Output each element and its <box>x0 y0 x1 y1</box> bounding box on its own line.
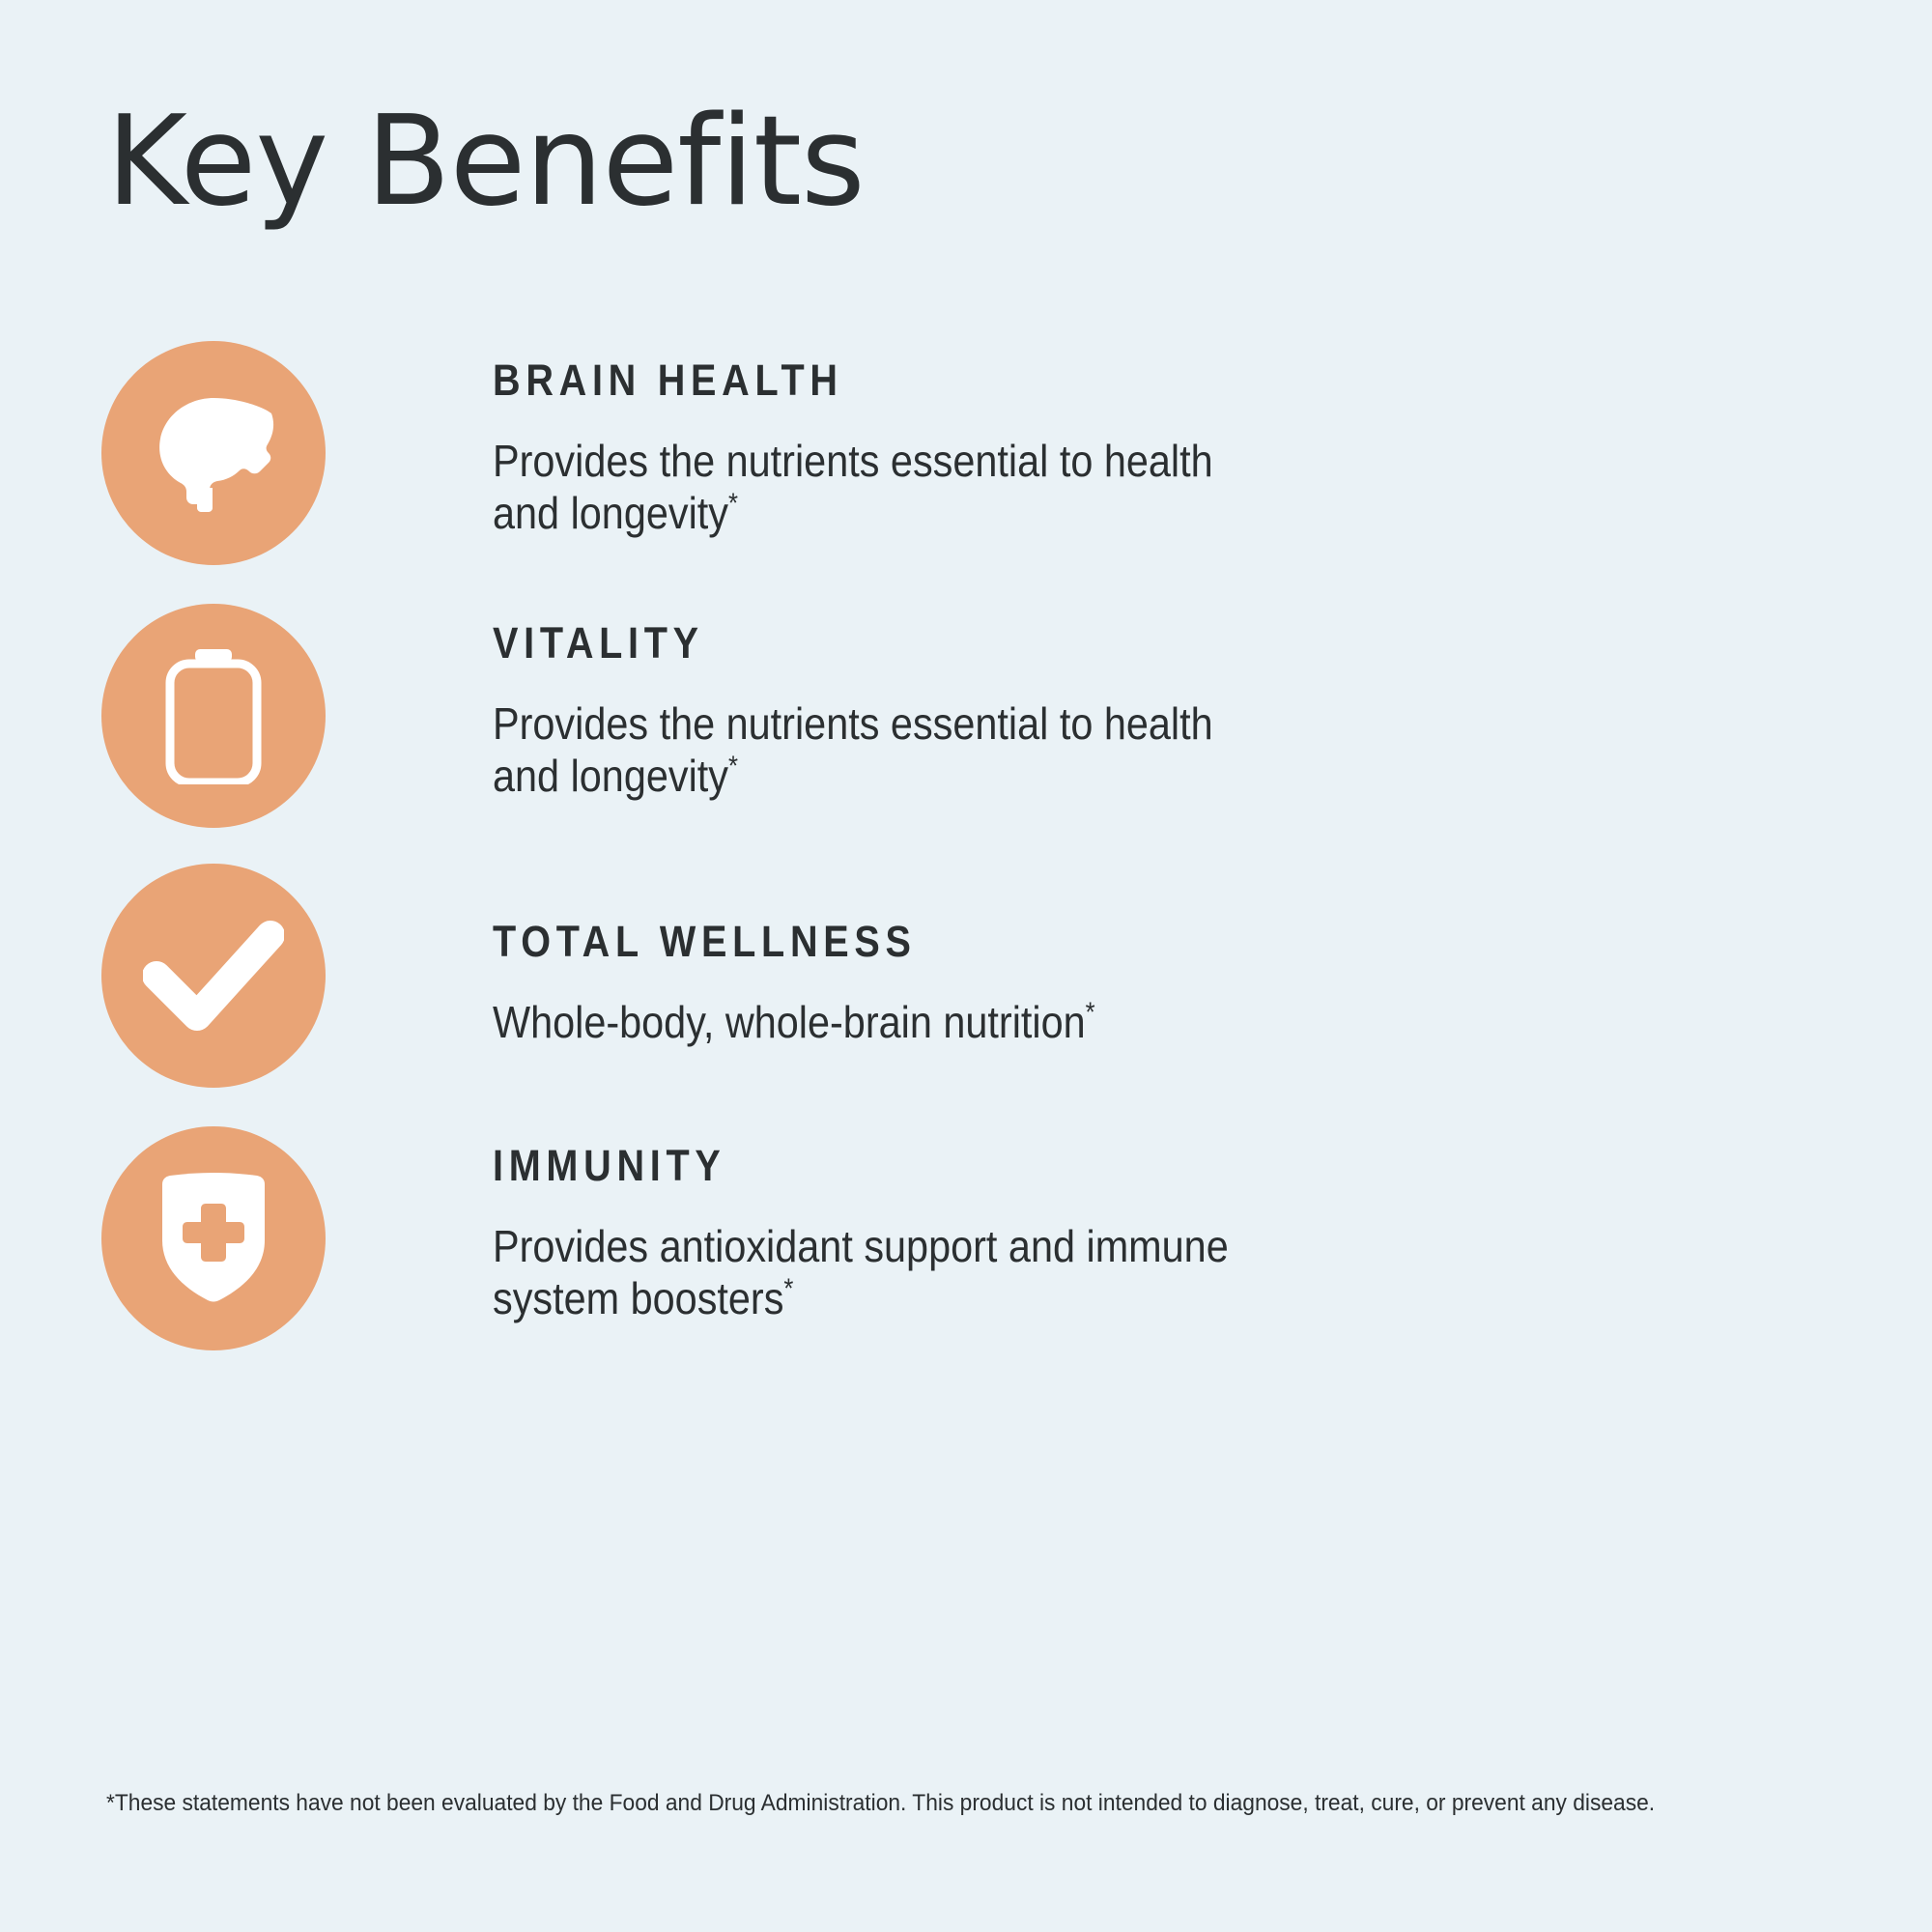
benefit-text-block: IMMUNITY Provides antioxidant support an… <box>493 1126 1748 1325</box>
benefit-heading: IMMUNITY <box>493 1144 1598 1187</box>
page-title: Key Benefits <box>106 100 865 224</box>
benefit-heading: TOTAL WELLNESS <box>493 920 1598 963</box>
benefit-icon-badge <box>101 1126 326 1350</box>
benefit-description: Provides antioxidant support and immune … <box>493 1220 1275 1325</box>
benefit-description: Whole-body, whole-brain nutrition* <box>493 996 1275 1048</box>
benefit-item-total-wellness: TOTAL WELLNESS Whole-body, whole-brain n… <box>101 864 1840 1088</box>
benefit-heading: BRAIN HEALTH <box>493 358 1598 402</box>
benefit-text-block: TOTAL WELLNESS Whole-body, whole-brain n… <box>493 864 1748 1048</box>
benefit-icon-badge <box>101 864 326 1088</box>
benefit-item-brain-health: BRAIN HEALTH Provides the nutrients esse… <box>101 341 1840 565</box>
benefit-heading: VITALITY <box>493 621 1598 665</box>
benefit-item-immunity: IMMUNITY Provides antioxidant support an… <box>101 1126 1840 1350</box>
brain-icon <box>150 394 277 512</box>
benefit-item-vitality: VITALITY Provides the nutrients essentia… <box>101 604 1840 828</box>
benefit-icon-badge <box>101 604 326 828</box>
benefit-icon-badge <box>101 341 326 565</box>
shield-plus-icon <box>156 1173 270 1304</box>
benefit-text-block: BRAIN HEALTH Provides the nutrients esse… <box>493 341 1748 540</box>
battery-bolt-icon <box>163 647 264 784</box>
fda-disclaimer-footnote: *These statements have not been evaluate… <box>106 1787 1661 1820</box>
benefit-description: Provides the nutrients essential to heal… <box>493 435 1275 540</box>
benefit-text-block: VITALITY Provides the nutrients essentia… <box>493 604 1748 803</box>
key-benefits-page: Key Benefits BRAIN HEALTH Provides the n… <box>0 0 1932 1932</box>
benefit-description: Provides the nutrients essential to heal… <box>493 697 1275 803</box>
checkmark-icon <box>143 920 284 1032</box>
